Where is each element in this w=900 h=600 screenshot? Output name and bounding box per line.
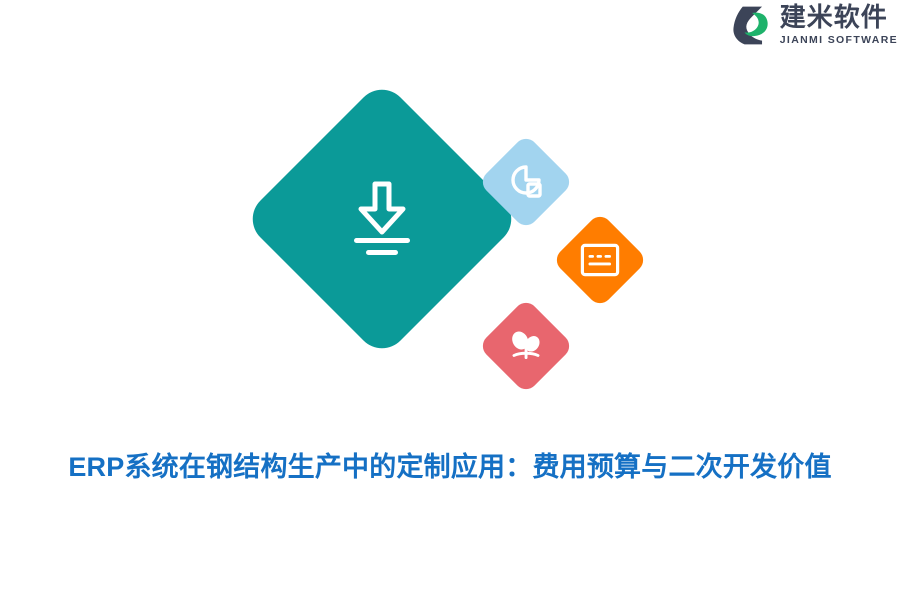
pie-chart-icon [506,162,546,202]
brand-name-en: JIANMI SOFTWARE [780,35,898,46]
brand-name-cn: 建米软件 [780,4,898,31]
download-icon [346,180,418,258]
diamond-form [552,212,648,308]
brand-wordmark: 建米软件 JIANMI SOFTWARE [780,4,898,46]
sprout-icon [506,326,546,366]
diamond-growth [478,298,574,394]
jianmi-logo-icon [728,2,774,48]
form-card-icon [580,243,620,277]
article-title: ERP系统在钢结构生产中的定制应用：费用预算与二次开发价值 [0,450,900,485]
hero-illustration [0,105,900,415]
brand-logo: 建米软件 JIANMI SOFTWARE [728,0,900,50]
diamond-main-download [242,79,522,359]
